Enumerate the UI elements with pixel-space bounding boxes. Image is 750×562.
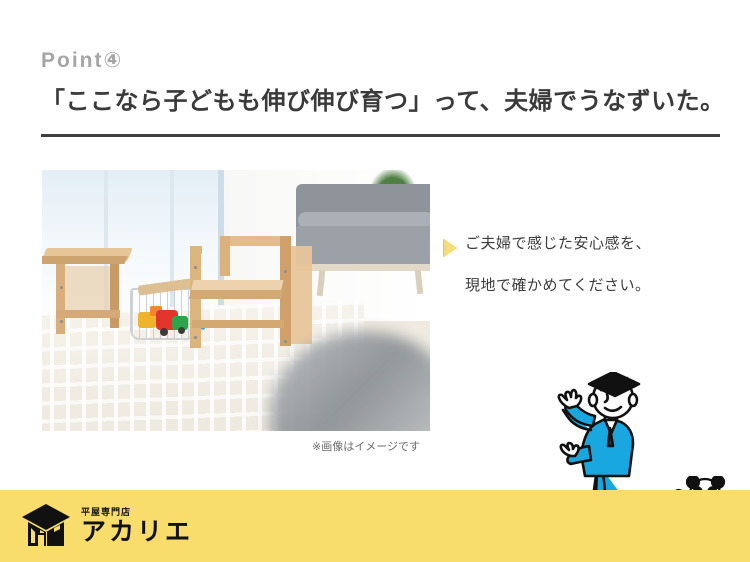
note-line-1: ご夫婦で感じた安心感を、 [465, 236, 651, 252]
note-line-2: 現地で確かめてください。 [465, 274, 734, 295]
photo-sofa [296, 178, 430, 296]
photo-frame [42, 170, 430, 431]
logo-name: アカリエ [81, 520, 193, 545]
house-logo-icon [20, 502, 72, 550]
page-title: 「ここなら子どもも伸び伸び育つ」って、夫婦でうなずいた。 [41, 88, 725, 117]
header-divider [41, 134, 720, 137]
slide-root: Point④ 「ここなら子どもも伸び伸び育つ」って、夫婦でうなずいた。 [0, 0, 750, 562]
triangle-right-icon [444, 239, 457, 257]
point-label: Point④ [41, 50, 123, 71]
brand-logo[interactable]: 平屋専門店 アカリエ [20, 502, 193, 550]
logo-subtitle: 平屋専門店 [81, 508, 193, 517]
photo-sofa-rail [296, 264, 430, 271]
photo-sofa-leg [415, 270, 423, 294]
note-block: ご夫婦で感じた安心感を、 現地で確かめてください。 [444, 236, 734, 295]
living-room-kids-furniture-photo [42, 170, 430, 431]
photo-caption: ※画像はイメージです [312, 438, 420, 454]
photo-sofa-seat [296, 226, 430, 266]
photo-sofa-leg [317, 270, 326, 296]
